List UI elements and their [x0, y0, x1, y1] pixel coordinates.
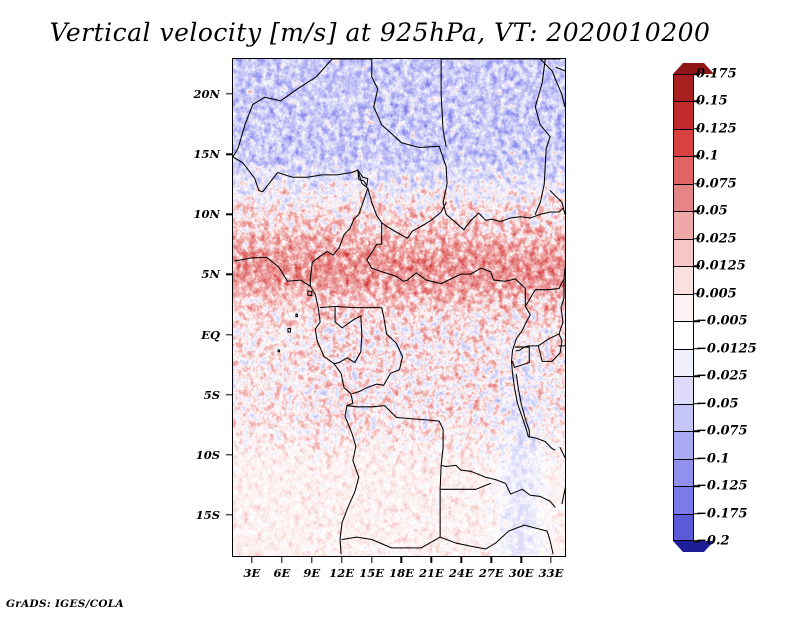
border-path [353, 343, 403, 393]
colorbar-label: 0.15 [696, 94, 728, 109]
grads-credit: GrADS: IGES/COLA [6, 598, 124, 610]
x-tick [431, 557, 432, 563]
x-tick [550, 557, 551, 563]
colorbar-segment [673, 321, 694, 348]
y-axis-label: 15N [172, 147, 220, 161]
colorbar-label: −0.1 [696, 451, 730, 466]
x-axis-label: 3E [244, 566, 261, 580]
y-tick [226, 514, 232, 515]
border-path [535, 59, 550, 214]
colorbar-segment [673, 431, 694, 458]
x-axis-label: 15E [359, 566, 384, 580]
x-tick [491, 557, 492, 563]
y-axis-label: EQ [172, 328, 220, 342]
y-tick [226, 93, 232, 94]
colorbar-label: −0.05 [696, 396, 739, 411]
colorbar-segment [673, 266, 694, 293]
border-path [253, 59, 332, 104]
colorbar-segment [673, 184, 694, 211]
y-tick [226, 214, 232, 215]
border-path [440, 483, 490, 489]
border-path [564, 268, 565, 279]
border-path [440, 525, 553, 554]
colorbar-segment [673, 74, 694, 101]
colorbar-segment [673, 156, 694, 183]
grads-map-figure: Vertical velocity [m/s] at 925hPa, VT: 2… [0, 0, 800, 618]
colorbar-label: 0.005 [696, 286, 737, 301]
y-axis-label: 15S [172, 508, 220, 522]
colorbar-label: 0.125 [696, 121, 737, 136]
y-axis-label: 10N [172, 207, 220, 221]
colorbar-label: −0.0125 [696, 341, 757, 356]
colorbar-label: −0.2 [696, 534, 730, 549]
x-tick [461, 557, 462, 563]
y-axis-label: 5N [172, 267, 220, 281]
border-path [358, 170, 368, 186]
x-axis-label: 33E [539, 566, 564, 580]
x-tick [520, 557, 521, 563]
y-axis-label: 20N [172, 87, 220, 101]
colorbar-segment [673, 211, 694, 238]
border-path [461, 470, 555, 507]
border-path [308, 291, 312, 296]
border-path [341, 59, 378, 107]
colorbar-segment [673, 376, 694, 403]
x-axis-label: 9E [303, 566, 320, 580]
x-axis-label: 24E [449, 566, 474, 580]
y-axis-label: 5S [172, 388, 220, 402]
map-plot-area[interactable] [232, 58, 566, 557]
colorbar-label: −0.075 [696, 424, 748, 439]
x-tick [251, 557, 252, 563]
colorbar-segment [673, 239, 694, 266]
border-path [320, 306, 354, 307]
colorbar-segment [673, 404, 694, 431]
colorbar-label: 0.05 [696, 204, 728, 219]
colorbar-segment [673, 514, 694, 541]
y-tick [226, 153, 232, 154]
x-tick [281, 557, 282, 563]
x-tick [371, 557, 372, 563]
x-axis-label: 18E [389, 566, 414, 580]
colorbar-label: −0.005 [696, 314, 748, 329]
border-path [334, 306, 362, 363]
colorbar[interactable] [673, 63, 694, 552]
page-title: Vertical velocity [m/s] at 925hPa, VT: 2… [0, 18, 760, 47]
colorbar-label: 0.1 [696, 149, 719, 164]
y-tick [226, 454, 232, 455]
border-path [310, 170, 367, 286]
country-borders-overlay [233, 59, 565, 555]
x-axis-label: 12E [329, 566, 354, 580]
colorbar-label: 0.075 [696, 176, 737, 191]
x-axis-label: 6E [273, 566, 290, 580]
colorbar-label: −0.025 [696, 369, 748, 384]
border-path [374, 107, 492, 230]
border-path [367, 223, 494, 284]
border-path [354, 308, 397, 344]
border-path [556, 67, 565, 71]
border-path [251, 257, 359, 553]
border-path [494, 279, 526, 307]
x-tick [311, 557, 312, 563]
border-path [233, 104, 263, 191]
border-path [347, 406, 461, 471]
border-path [368, 188, 446, 238]
colorbar-segment [673, 349, 694, 376]
border-path [550, 191, 565, 215]
border-path [513, 373, 529, 436]
border-path [288, 328, 290, 332]
colorbar-label: 0.0125 [696, 259, 746, 274]
border-path [296, 314, 297, 316]
border-path [441, 59, 446, 146]
y-axis-label: 10S [172, 448, 220, 462]
colorbar-label: −0.125 [696, 479, 748, 494]
border-path [525, 279, 564, 307]
colorbar-segment [673, 486, 694, 513]
colorbar-segment [673, 101, 694, 128]
x-tick [341, 557, 342, 563]
colorbar-segment [673, 129, 694, 156]
border-path [263, 170, 358, 192]
x-tick [401, 557, 402, 563]
border-path [342, 465, 441, 548]
colorbar-label: 0.025 [696, 231, 737, 246]
colorbar-segment [673, 459, 694, 486]
colorbar-label: −0.175 [696, 506, 748, 521]
border-path [492, 208, 563, 221]
colorbar-segment [673, 294, 694, 321]
x-axis-label: 27E [479, 566, 504, 580]
x-axis-label: 21E [419, 566, 444, 580]
border-path [528, 437, 555, 450]
border-path [560, 447, 565, 503]
y-tick [226, 274, 232, 275]
border-path [538, 334, 562, 361]
border-path [278, 350, 279, 352]
border-path [235, 258, 251, 261]
x-axis-label: 30E [509, 566, 534, 580]
y-tick [226, 394, 232, 395]
y-tick [226, 334, 232, 335]
colorbar-label: 0.175 [696, 67, 737, 82]
